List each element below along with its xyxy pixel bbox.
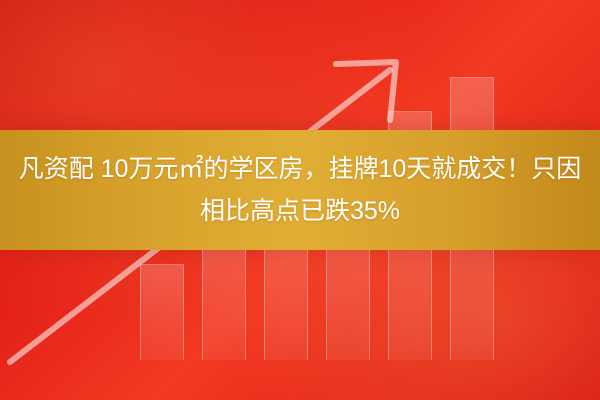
poster-canvas: 凡资配 10万元㎡的学区房，挂牌10天就成交！只因相比高点已跌35% [0, 0, 600, 400]
headline-text: 凡资配 10万元㎡的学区房，挂牌10天就成交！只因相比高点已跌35% [0, 130, 600, 250]
